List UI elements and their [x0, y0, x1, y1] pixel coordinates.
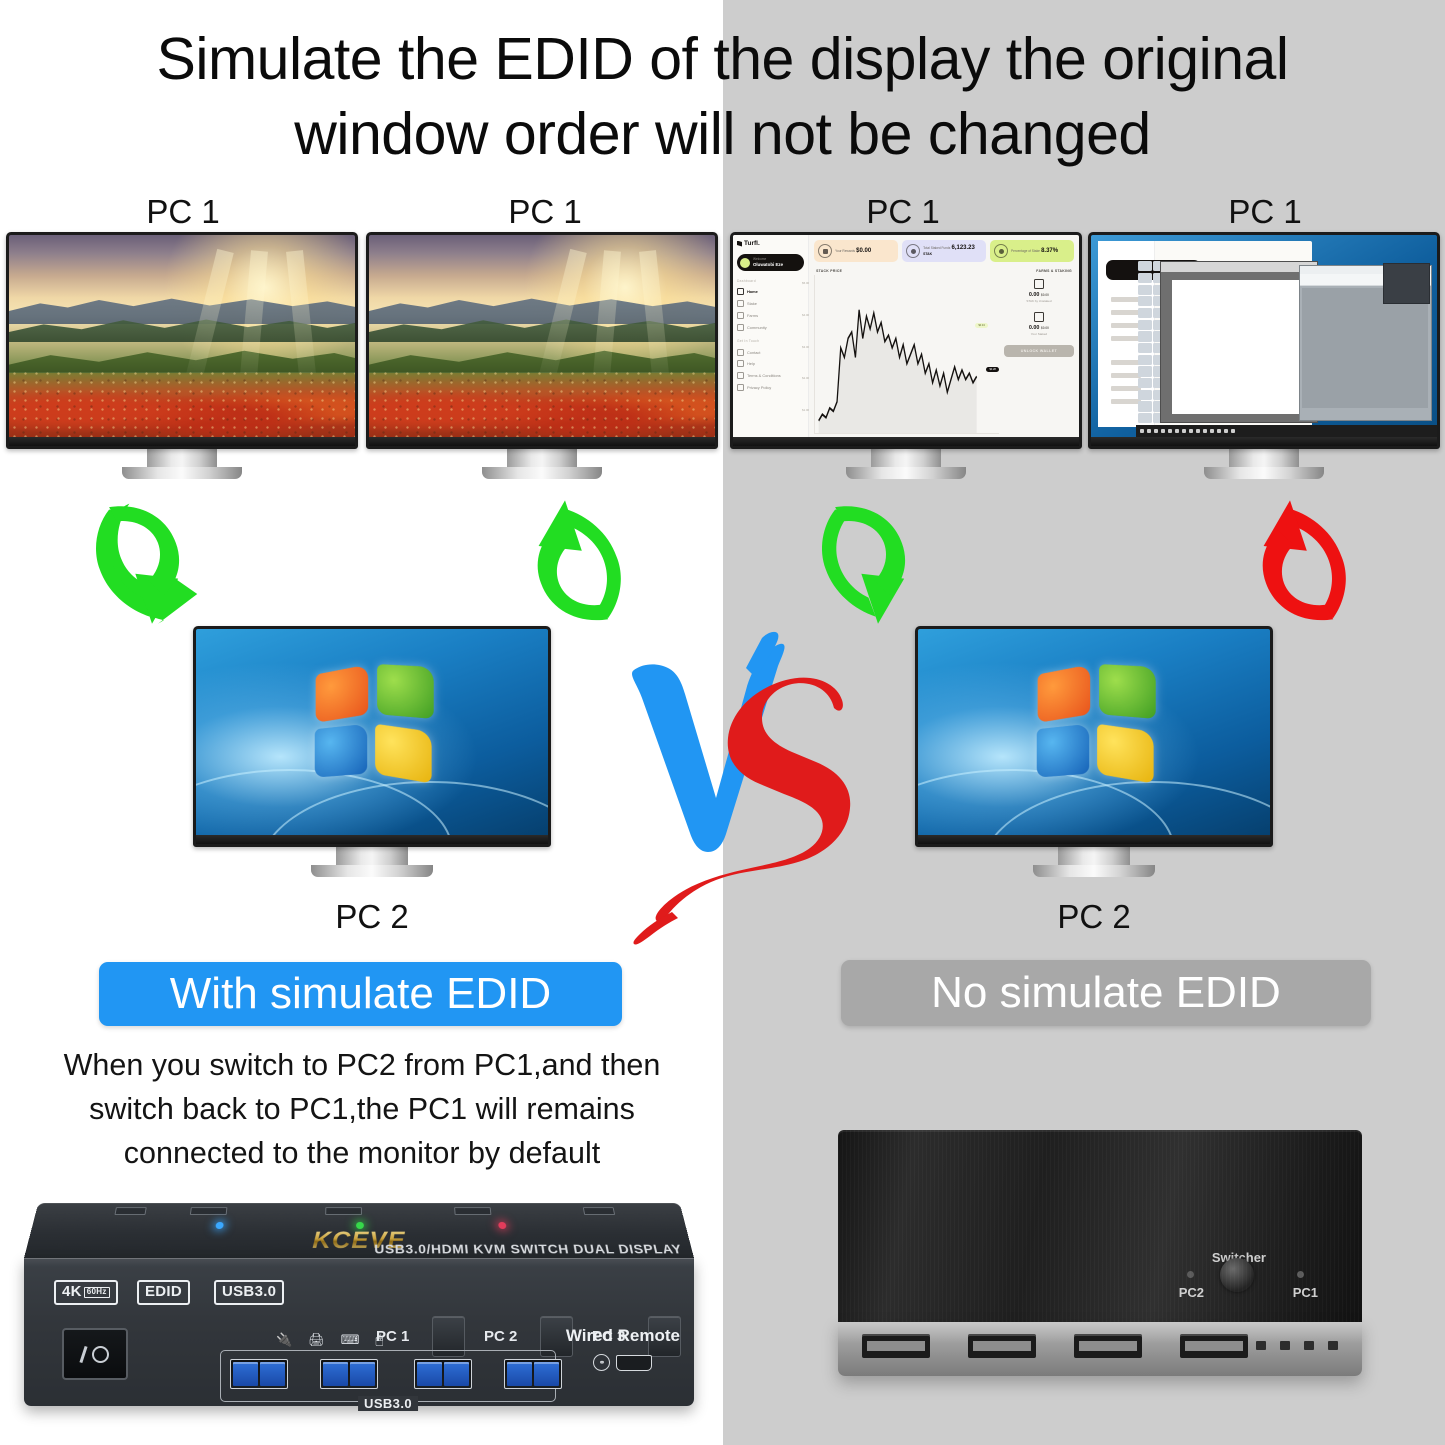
hdmi-port-icon: [190, 1207, 228, 1215]
stat-unit: STAK: [923, 252, 932, 256]
port-label-pc2: PC2: [1179, 1285, 1204, 1300]
sidebar-item-label: Farms: [747, 313, 758, 318]
arrow-green-down-left: [92, 500, 212, 625]
switcher-label: Switcher: [1212, 1250, 1266, 1265]
indicator: [1256, 1341, 1266, 1350]
chart-pill-current: $0.28: [986, 367, 999, 372]
sidebar-item-stake[interactable]: Stake: [737, 298, 804, 310]
sidebar-item-contact[interactable]: Contact: [737, 346, 804, 358]
sidebar-item-label: Contact: [747, 350, 760, 355]
farms-staking-title: FARMS & STAKING: [1036, 269, 1072, 273]
x-tick: JAN: [817, 436, 822, 437]
stat-card-staked: Total Staked Funds 6,123.23 STAK: [902, 240, 986, 262]
hdmi-port-icon: [325, 1207, 362, 1215]
chart-title: STACK PRICE: [816, 269, 842, 273]
user-name: Oluwatobi Eze: [753, 262, 783, 268]
windows-logo-icon: [315, 664, 434, 779]
kvm-switch-device: KCEVE USB3.0/HDMI KVM SWITCH DUAL DISPLA…: [24, 1196, 694, 1406]
usb-port[interactable]: [1180, 1334, 1248, 1358]
y-tick: $4.00: [802, 313, 809, 317]
led-indicator-blue: [215, 1222, 224, 1229]
wired-remote-section: Wired Remote ⚭: [566, 1326, 680, 1371]
stat-value: 6,123.23: [952, 245, 975, 251]
label-right-bottom-pc2: PC 2: [994, 898, 1194, 936]
stat-unit: $0.00: [1041, 293, 1049, 297]
messy-desktop-screen: [1091, 235, 1437, 437]
usb3-port[interactable]: [504, 1359, 562, 1389]
device-top-face: Switcher PC2 PC1: [838, 1130, 1362, 1322]
sidebar-item-privacy[interactable]: Privacy Policy: [737, 381, 804, 393]
label-left-bottom-pc2: PC 2: [272, 898, 472, 936]
left-panel-caption: When you switch to PC2 from PC1,and then…: [62, 1044, 662, 1176]
nav-section-title-2: Get In Touch: [737, 339, 804, 343]
kvm-front-face: 4K 60Hz EDID USB3.0 PC 1 PC 2 PC 3 🔌 🖨: [24, 1258, 694, 1406]
x-tick: JUL: [916, 436, 921, 437]
banner-no-simulate-edid: No simulate EDID: [841, 960, 1371, 1026]
sidebar-item-help[interactable]: Help: [737, 358, 804, 370]
chart-line: [815, 275, 999, 433]
wallpaper-windows7: [918, 629, 1270, 835]
dashboard-sidebar: Turfl. Welcome Oluwatobi Eze Dashboard H…: [733, 235, 809, 437]
device-front-face: [838, 1322, 1362, 1376]
avatar: [740, 258, 750, 268]
monitor-left-top-1: [6, 232, 358, 479]
power-line-icon: [79, 1345, 87, 1362]
mouse-icon: 🖱: [375, 1332, 383, 1348]
arrow-green-up-right: [505, 497, 625, 625]
stat-label: Percentage of Stake: [1011, 249, 1040, 253]
sidebar-item-label: Terms & Conditions: [747, 373, 781, 378]
nav-section-title-1: Dashboard: [737, 279, 804, 283]
sidebar-item-label: Help: [747, 361, 755, 366]
wallpaper-windows7: [196, 629, 548, 835]
percentage-icon: [994, 244, 1008, 258]
wallpaper-sunset-mountains: [9, 235, 355, 437]
stat-value: 0.00: [1029, 325, 1040, 331]
badge-edid: EDID: [137, 1280, 190, 1305]
indicator: [1328, 1341, 1338, 1350]
hdmi-port-icon: [114, 1207, 146, 1215]
stack-price-chart: $5.00 $4.00 $3.00 $2.00 $1.00 JAN MAR MA…: [814, 275, 999, 434]
farms-icon: [737, 312, 744, 319]
badge-usb3: USB3.0: [214, 1280, 284, 1305]
switch-knob[interactable]: [1220, 1258, 1254, 1292]
stat-caption: Your Staked: [1004, 332, 1074, 336]
x-tick: NOV: [980, 436, 986, 437]
usb3-port[interactable]: [230, 1359, 288, 1389]
led-indicator-red: [498, 1222, 507, 1229]
dashboard-stat-cards: Your Rewards $0.00 Total Staked Funds 6,…: [814, 240, 1074, 262]
infographic-root: Simulate the EDID of the display the ori…: [0, 0, 1445, 1445]
staked-icon: [906, 244, 920, 258]
usb-port[interactable]: [968, 1334, 1036, 1358]
stat-card-rewards: Your Rewards $0.00: [814, 240, 898, 262]
sidebar-item-home[interactable]: Home: [737, 286, 804, 298]
keyboard-icon: ⌨: [341, 1332, 360, 1348]
sidebar-item-farms[interactable]: Farms: [737, 310, 804, 322]
y-tick: $3.00: [802, 345, 809, 349]
badge-4k: 4K 60Hz: [54, 1280, 118, 1305]
usb3-group-label: USB3.0: [358, 1396, 418, 1411]
home-icon: [737, 288, 744, 295]
usb-cable-icon: 🔌: [276, 1332, 292, 1348]
sidebar-item-community[interactable]: Community: [737, 321, 804, 333]
usb3-port[interactable]: [320, 1359, 378, 1389]
stake-icon: [737, 300, 744, 307]
unlock-wallet-button[interactable]: UNLOCK WALLET: [1004, 345, 1074, 357]
port-label-pc1: PC1: [1293, 1285, 1318, 1300]
x-tick: SEP: [949, 436, 955, 437]
x-tick: MAR: [850, 436, 856, 437]
windows-logo-icon: [1037, 664, 1156, 779]
stat-label: Your Rewards: [835, 249, 855, 253]
overlapping-window-primary[interactable]: [1160, 261, 1318, 423]
unstake-icon: [1034, 279, 1044, 289]
overlapping-window-panel[interactable]: [1383, 263, 1430, 303]
wallpaper-sunset-mountains: [369, 235, 715, 437]
sidebar-item-label: Privacy Policy: [747, 385, 771, 390]
usb-port[interactable]: [862, 1334, 930, 1358]
taskbar[interactable]: [1136, 425, 1437, 437]
generic-kvm-device: Switcher PC2 PC1: [838, 1130, 1362, 1376]
dashboard-screen: Turfl. Welcome Oluwatobi Eze Dashboard H…: [733, 235, 1079, 437]
arrow-green-down-left-right-panel: [818, 500, 938, 625]
farms-staking-panel: 0.00 $0.00 STAK by Unstaked 0.00 $0.00 Y…: [1004, 275, 1074, 434]
usb-port-icon: [583, 1207, 615, 1215]
kvm-top-face: KCEVE USB3.0/HDMI KVM SWITCH DUAL DISPLA…: [24, 1203, 694, 1258]
micro-usb-jack[interactable]: [616, 1355, 652, 1371]
banner-with-simulate-edid: With simulate EDID: [99, 962, 622, 1026]
hdmi-port-icon: [454, 1207, 491, 1215]
led-indicator: [1297, 1271, 1304, 1278]
phone-icon: [737, 349, 744, 356]
arrow-red-up-right: [1230, 497, 1350, 625]
sidebar-item-label: Stake: [747, 301, 757, 306]
label-left-monitor-1: PC 1: [78, 193, 288, 231]
stat-card-percentage: Percentage of Stake 8.37%: [990, 240, 1074, 262]
rewards-icon: [818, 244, 832, 258]
headline-line-2: window order will not be changed: [0, 97, 1445, 172]
monitor-right-top-1: Turfl. Welcome Oluwatobi Eze Dashboard H…: [730, 232, 1082, 479]
stat-value: 8.37%: [1041, 248, 1058, 254]
usb-port[interactable]: [1074, 1334, 1142, 1358]
sidebar-item-terms[interactable]: Terms & Conditions: [737, 370, 804, 382]
y-tick: $1.00: [802, 408, 809, 412]
monitor-right-top-2: [1088, 232, 1440, 479]
monitor-right-bottom-pc2: [915, 626, 1273, 877]
usb3-port[interactable]: [414, 1359, 472, 1389]
label-right-monitor-1: PC 1: [798, 193, 1008, 231]
brand-mark-icon: [737, 241, 742, 247]
remote-key-icon: ⚭: [593, 1354, 610, 1371]
label-right-monitor-2: PC 1: [1160, 193, 1370, 231]
page-title: Simulate the EDID of the display the ori…: [0, 22, 1445, 172]
dashboard-user-card[interactable]: Welcome Oluwatobi Eze: [737, 254, 804, 271]
dashboard-brand: Turfl.: [737, 240, 804, 247]
sidebar-item-label: Home: [747, 289, 758, 294]
headline-line-1: Simulate the EDID of the display the ori…: [0, 22, 1445, 97]
monitor-left-top-2: [366, 232, 718, 479]
document-icon: [737, 384, 744, 391]
stat-value: $0.00: [856, 248, 871, 254]
power-switch[interactable]: [62, 1328, 128, 1380]
stake-icon: [1034, 312, 1044, 322]
power-circle-icon: [92, 1346, 109, 1363]
device-subtitle: USB3.0/HDMI KVM SWITCH DUAL DISPLAY: [374, 1242, 683, 1257]
stat-label: Total Staked Funds: [923, 246, 950, 250]
x-tick: MAY: [883, 436, 889, 437]
community-icon: [737, 324, 744, 331]
pc2-button-label: PC 2: [484, 1328, 517, 1345]
stat-caption: STAK by Unstaked: [1004, 299, 1074, 303]
led-indicator: [1187, 1271, 1194, 1278]
indicator: [1280, 1341, 1290, 1350]
usb-device-icons: 🔌 🖨 ⌨ 🖱: [276, 1332, 383, 1348]
sidebar-item-label: Community: [747, 325, 767, 330]
wired-remote-label: Wired Remote: [566, 1326, 680, 1346]
monitor-left-bottom-pc2: [193, 626, 551, 877]
y-tick: $2.00: [802, 376, 809, 380]
label-left-monitor-2: PC 1: [440, 193, 650, 231]
dashboard-main: Your Rewards $0.00 Total Staked Funds 6,…: [809, 235, 1079, 437]
indicator: [1304, 1341, 1314, 1350]
help-icon: [737, 360, 744, 367]
chart-pill-high: $0.34: [975, 323, 988, 328]
vs-badge: [612, 612, 882, 952]
stat-unit: $0.00: [1041, 326, 1049, 330]
shield-icon: [737, 372, 744, 379]
printer-icon: 🖨: [308, 1332, 325, 1348]
brand-label: Turfl.: [744, 240, 760, 247]
stat-value: 0.00: [1029, 292, 1040, 298]
y-tick: $5.00: [802, 281, 809, 285]
